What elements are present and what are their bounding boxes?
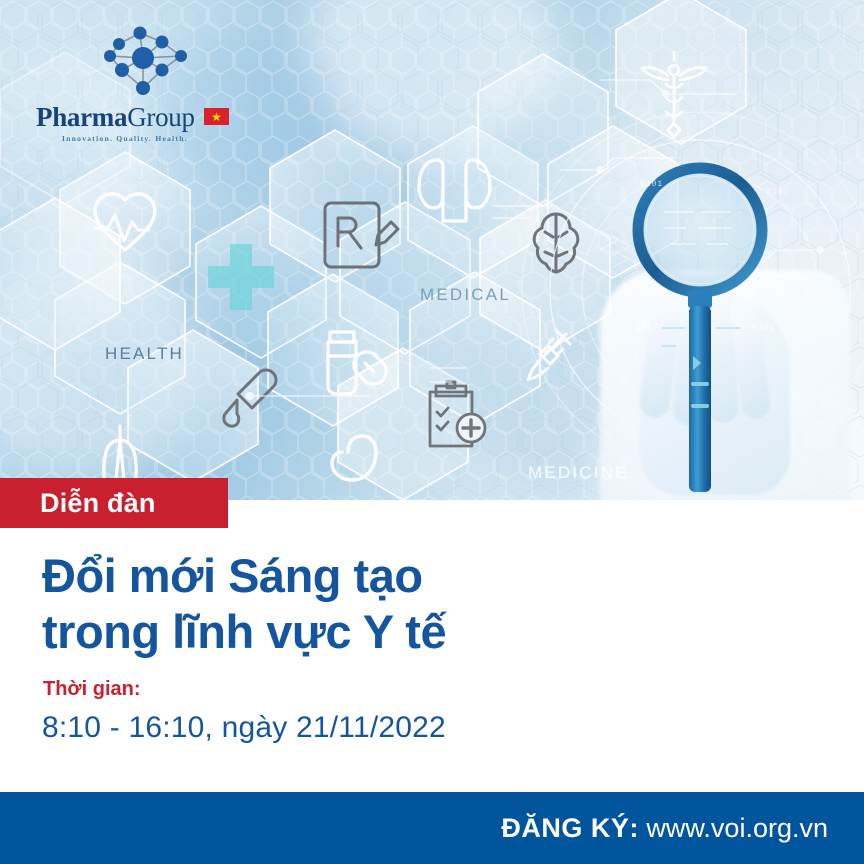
registration-bar: ĐĂNG KÝ: www.voi.org.vn — [0, 792, 864, 864]
pharmagroup-logo: PharmaGroup ★ Innovation. Quality. Healt… — [36, 26, 246, 141]
event-poster: 0101 0101 0101 0101 HEALTH MEDICAL MEDIC… — [0, 0, 864, 864]
page-title: Đổi mới Sáng tạo trong lĩnh vực Y tế — [42, 548, 762, 661]
hex-label-medical: MEDICAL — [420, 285, 511, 305]
registration-text: ĐĂNG KÝ: www.voi.org.vn — [501, 813, 828, 844]
page-title-line1: Đổi mới Sáng tạo — [42, 549, 423, 602]
schedule-label: Thời gian: — [43, 678, 141, 701]
tech-digits: 0101 — [640, 180, 663, 189]
hero-image: 0101 0101 0101 0101 HEALTH MEDICAL MEDIC… — [0, 0, 864, 500]
tech-digits: 0101 — [766, 188, 789, 197]
logo-tagline: Innovation. Quality. Health. — [62, 134, 188, 143]
tech-digits: 0101 — [752, 324, 775, 333]
registration-label: ĐĂNG KÝ: — [501, 813, 639, 843]
page-title-line2: trong lĩnh vực Y tế — [42, 604, 762, 660]
hex-label-health: HEALTH — [105, 344, 184, 364]
tech-digits: 0101 — [636, 322, 659, 331]
hex-label-medicine: MEDICINE — [528, 463, 629, 483]
logo-word-bold: Pharma — [36, 102, 127, 132]
molecule-heart-mark — [88, 26, 198, 100]
registration-url[interactable]: www.voi.org.vn — [646, 813, 828, 843]
flag-star: ★ — [211, 111, 222, 123]
logo-word-light: Group — [127, 102, 195, 132]
doctor-hand — [560, 120, 864, 500]
schedule-value: 8:10 - 16:10, ngày 21/11/2022 — [42, 711, 446, 745]
forum-badge: Diễn đàn — [0, 478, 228, 528]
forum-badge-label: Diễn đàn — [40, 490, 156, 517]
vietnam-flag-icon: ★ — [204, 108, 229, 125]
